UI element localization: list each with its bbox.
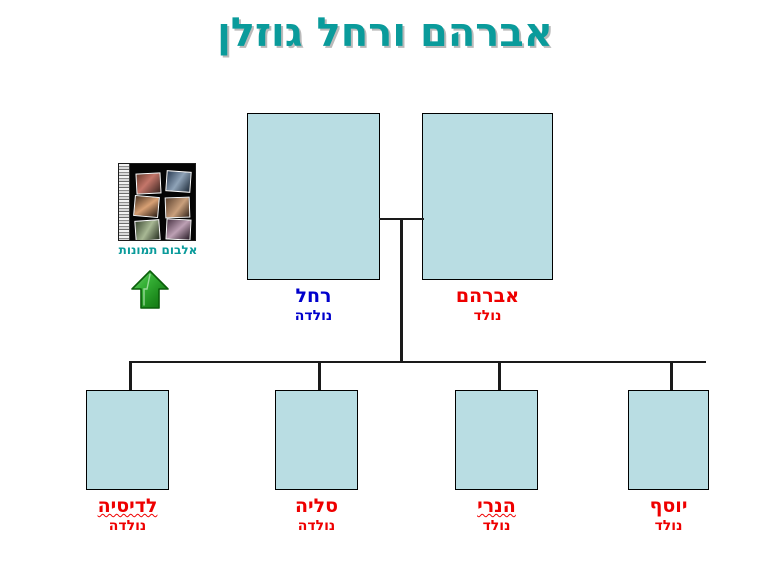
person-box-yosef[interactable] bbox=[628, 390, 709, 490]
album-photo-5 bbox=[134, 219, 160, 241]
album-caption: אלבום תמונות bbox=[88, 243, 228, 257]
connector-descent-line bbox=[400, 219, 403, 362]
album-photo-6 bbox=[165, 218, 191, 240]
person-box-rachel[interactable] bbox=[247, 113, 380, 280]
person-status-avraham: נולד bbox=[422, 309, 553, 324]
family-tree-canvas: אברהם ורחל גוזלן אלבום תמונות bbox=[0, 0, 770, 570]
page-title: אברהם ורחל גוזלן bbox=[0, 6, 770, 60]
person-label-silia: סליה נולדה bbox=[255, 496, 378, 534]
connector-drop-ledisia bbox=[129, 361, 132, 391]
album-photo-2 bbox=[165, 170, 191, 193]
person-label-henri: הנרי נולד bbox=[435, 496, 558, 534]
person-name-ledisia: לדיסיה bbox=[66, 496, 189, 517]
person-status-henri: נולד bbox=[435, 519, 558, 534]
person-box-ledisia[interactable] bbox=[86, 390, 169, 490]
person-box-henri[interactable] bbox=[455, 390, 538, 490]
album-photo-1 bbox=[135, 172, 161, 194]
album-spiral-binding bbox=[119, 164, 130, 240]
person-label-avraham: אברהם נולד bbox=[422, 286, 553, 324]
album-page bbox=[118, 163, 196, 241]
person-name-yosef: יוסף bbox=[608, 496, 729, 517]
green-up-arrow-icon[interactable] bbox=[128, 268, 172, 312]
album-photo-3 bbox=[133, 195, 160, 218]
photo-album-icon[interactable] bbox=[118, 163, 196, 241]
connector-sibling-bus bbox=[130, 361, 706, 363]
person-box-avraham[interactable] bbox=[422, 113, 553, 280]
person-status-yosef: נולד bbox=[608, 519, 729, 534]
connector-drop-yosef bbox=[670, 361, 673, 391]
person-name-rachel: רחל bbox=[247, 286, 380, 307]
connector-drop-silia bbox=[318, 361, 321, 391]
person-status-rachel: נולדה bbox=[247, 309, 380, 324]
person-name-silia: סליה bbox=[255, 496, 378, 517]
person-name-avraham: אברהם bbox=[422, 286, 553, 307]
person-label-rachel: רחל נולדה bbox=[247, 286, 380, 324]
person-label-ledisia: לדיסיה נולדה bbox=[66, 496, 189, 534]
person-status-ledisia: נולדה bbox=[66, 519, 189, 534]
person-label-yosef: יוסף נולד bbox=[608, 496, 729, 534]
person-name-henri: הנרי bbox=[435, 496, 558, 517]
album-photo-4 bbox=[165, 197, 191, 219]
person-box-silia[interactable] bbox=[275, 390, 358, 490]
person-status-silia: נולדה bbox=[255, 519, 378, 534]
connector-drop-henri bbox=[498, 361, 501, 391]
